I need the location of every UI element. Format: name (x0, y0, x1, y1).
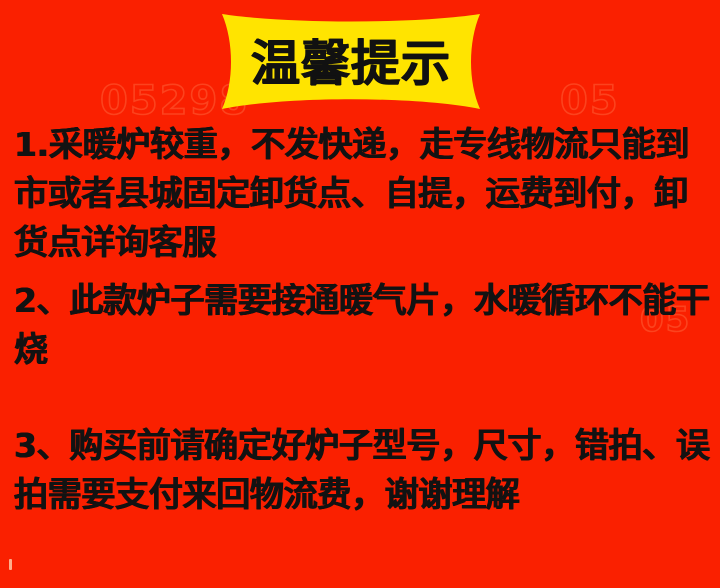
note-text-2: 此款炉子需要接通暖气片，水暖循环不能干烧 (14, 281, 710, 370)
corner-artifact (9, 559, 12, 570)
note-text-3: 购买前请确定好炉子型号，尺寸，错拍、误拍需要支付来回物流费，谢谢理解 (14, 426, 710, 515)
title-banner: 温馨提示 (216, 8, 486, 116)
note-marker-2: 2、 (14, 281, 69, 320)
banner-title-wrap: 温馨提示 (216, 8, 486, 116)
note-item-2: 2、此款炉子需要接通暖气片，水暖循环不能干烧 (0, 276, 720, 375)
promo-poster: 05298 05 05 温馨提示 1.采暖炉较重，不发快递，走专线物流只能到市或… (0, 0, 720, 588)
page-title: 温馨提示 (251, 37, 451, 88)
watermark-text-right: 05 (560, 78, 620, 124)
note-item-3: 3、购买前请确定好炉子型号，尺寸，错拍、误拍需要支付来回物流费，谢谢理解 (0, 421, 720, 520)
note-marker-3: 3、 (14, 426, 69, 465)
note-item-1: 1.采暖炉较重，不发快递，走专线物流只能到市或者县城固定卸货点、自提，运费到付，… (0, 120, 720, 268)
note-text-1: 采暖炉较重，不发快递，走专线物流只能到市或者县城固定卸货点、自提，运费到付，卸货… (14, 125, 689, 263)
notes-list: 1.采暖炉较重，不发快递，走专线物流只能到市或者县城固定卸货点、自提，运费到付，… (0, 120, 720, 520)
note-marker-1: 1. (14, 125, 49, 164)
